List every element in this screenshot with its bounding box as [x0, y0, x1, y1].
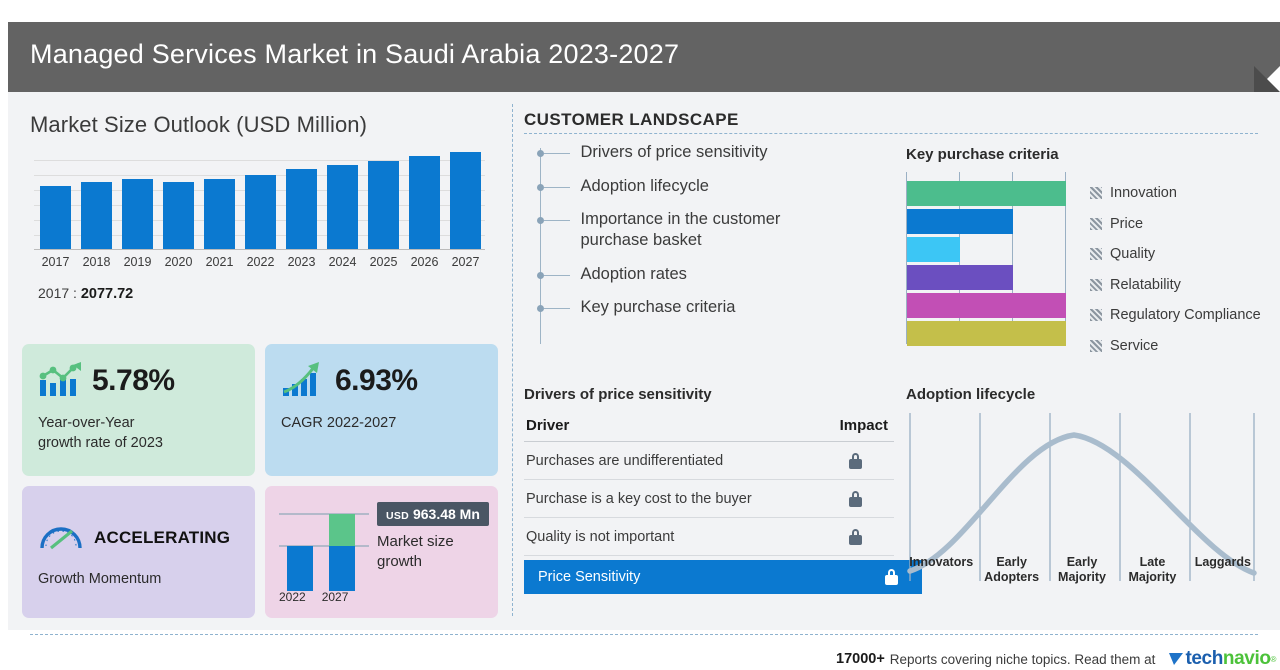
stage-label: EarlyMajority — [1047, 555, 1117, 584]
kpc-bar-relatability — [907, 265, 1013, 290]
column-header-driver: Driver — [526, 417, 569, 434]
kpi-card-yoy[interactable]: 5.78% Year-over-Year growth rate of 2023 — [22, 344, 255, 476]
lock-icon — [849, 453, 862, 469]
bullet-dot-icon — [537, 217, 544, 224]
bullet-dot-icon — [537, 150, 544, 157]
mini-label-2022: 2022 — [279, 590, 306, 604]
kpc-bar-quality — [907, 237, 960, 262]
list-item[interactable]: Drivers of price sensitivity — [534, 142, 894, 163]
list-item[interactable]: Adoption rates — [534, 264, 894, 285]
bar-2025 — [368, 161, 399, 249]
drivers-table-header: Driver Impact — [524, 417, 894, 442]
market-growth-mini-chart — [279, 504, 375, 604]
kpi-sub-yoy-line1: Year-over-Year — [38, 414, 239, 434]
legend-label: Relatability — [1110, 277, 1181, 293]
bar-2020 — [163, 182, 194, 249]
alc-plot: InnovatorsEarlyAdoptersEarlyMajorityLate… — [906, 413, 1258, 588]
table-row-highlighted[interactable]: Price Sensitivity — [524, 560, 922, 594]
kpc-title: Key purchase criteria — [906, 146, 1266, 163]
page-title: Managed Services Market in Saudi Arabia … — [30, 39, 679, 70]
key-purchase-criteria-chart: Key purchase criteria InnovationPriceQua… — [906, 146, 1266, 361]
legend-item: Regulatory Compliance — [1090, 300, 1261, 331]
bar-2017 — [40, 186, 71, 249]
kpc-plot — [906, 172, 1066, 344]
kpc-legend: InnovationPriceQualityRelatabilityRegula… — [1090, 172, 1261, 361]
kpc-bar-service — [907, 321, 1066, 346]
list-item-label: Adoption lifecycle — [581, 176, 709, 197]
market-growth-badge: USD 963.48 Mn — [377, 502, 489, 526]
leader-line — [544, 187, 570, 188]
x-label-2017: 2017 — [40, 255, 71, 269]
bar-2022 — [245, 175, 276, 249]
market-growth-line2: growth — [377, 552, 454, 572]
hatch-swatch-icon — [1090, 340, 1102, 352]
market-growth-line1: Market size — [377, 532, 454, 552]
legend-label: Regulatory Compliance — [1110, 307, 1261, 323]
legend-item: Innovation — [1090, 178, 1261, 209]
kpc-bar-price — [907, 209, 1013, 234]
registered-mark-icon: ® — [1271, 655, 1277, 664]
list-item[interactable]: Importance in the customer purchase bask… — [534, 209, 894, 250]
badge-value: 963.48 Mn — [413, 506, 480, 522]
leader-line — [544, 308, 570, 309]
footer-divider — [30, 634, 1258, 635]
x-label-2019: 2019 — [122, 255, 153, 269]
lock-icon — [885, 569, 898, 585]
drivers-table: Drivers of price sensitivity Driver Impa… — [524, 386, 894, 594]
bar-2024 — [327, 165, 358, 249]
kpi-value-cagr: 6.93% — [335, 364, 418, 398]
stage-label: EarlyAdopters — [976, 555, 1046, 584]
lock-icon — [849, 529, 862, 545]
kpc-bar-innovation — [907, 181, 1066, 206]
hatch-swatch-icon — [1090, 248, 1102, 260]
bar-chart-x-labels: 2017201820192020202120222023202420252026… — [40, 255, 500, 269]
bullet-dot-icon — [537, 272, 544, 279]
driver-label: Purchases are undifferentiated — [526, 453, 723, 469]
legend-label: Innovation — [1110, 185, 1177, 201]
bar-2027 — [450, 152, 481, 249]
x-label-2022: 2022 — [245, 255, 276, 269]
badge-currency: USD — [386, 510, 409, 522]
drivers-title: Drivers of price sensitivity — [524, 386, 894, 403]
legend-label: Service — [1110, 338, 1158, 354]
legend-item: Quality — [1090, 239, 1261, 270]
bar-series — [40, 160, 481, 249]
list-item-label: Drivers of price sensitivity — [581, 142, 768, 163]
lock-icon — [849, 491, 862, 507]
customer-landscape-underline — [524, 133, 1258, 134]
market-size-callout: 2017 : 2077.72 — [38, 285, 500, 302]
bar-2018 — [81, 182, 112, 249]
x-label-2025: 2025 — [368, 255, 399, 269]
hatch-swatch-icon — [1090, 309, 1102, 321]
technavio-mark-icon — [1168, 650, 1185, 669]
market-growth-x-labels: 2022 2027 — [279, 590, 379, 604]
legend-label: Quality — [1110, 246, 1155, 262]
x-label-2023: 2023 — [286, 255, 317, 269]
kpi-card-momentum[interactable]: ACCELERATING Growth Momentum — [22, 486, 255, 618]
kpi-card-cagr[interactable]: 6.93% CAGR 2022-2027 — [265, 344, 498, 476]
bullet-dot-icon — [537, 184, 544, 191]
x-label-2020: 2020 — [163, 255, 194, 269]
driver-label: Purchase is a key cost to the buyer — [526, 491, 752, 507]
kpi-sub-momentum: Growth Momentum — [38, 570, 239, 590]
kpi-card-market-growth[interactable]: 2022 2027 USD 963.48 Mn Market size grow… — [265, 486, 498, 618]
hatch-swatch-icon — [1090, 218, 1102, 230]
callout-year: 2017 : — [38, 285, 77, 301]
legend-label: Price — [1110, 216, 1143, 232]
stage-label: Laggards — [1188, 555, 1258, 584]
stage-label: LateMajority — [1117, 555, 1187, 584]
bar-2019 — [122, 179, 153, 249]
adoption-lifecycle-chart: Adoption lifecycle InnovatorsEarlyAdopte… — [906, 386, 1262, 588]
list-item-label: Adoption rates — [581, 264, 687, 285]
leader-line — [544, 220, 570, 221]
x-label-2024: 2024 — [327, 255, 358, 269]
kpi-card-grid: 5.78% Year-over-Year growth rate of 2023 — [22, 344, 498, 618]
kpi-sub-cagr: CAGR 2022-2027 — [281, 414, 482, 434]
hatch-swatch-icon — [1090, 279, 1102, 291]
kpi-value-yoy: 5.78% — [92, 364, 175, 398]
bar-line-growth-icon — [38, 360, 82, 403]
list-item[interactable]: Key purchase criteria — [534, 297, 894, 318]
x-label-2018: 2018 — [81, 255, 112, 269]
list-item[interactable]: Adoption lifecycle — [534, 176, 894, 197]
technavio-logo[interactable]: tech navio ® — [1168, 648, 1276, 670]
table-row[interactable]: Quality is not important — [524, 518, 894, 556]
customer-landscape-list: Drivers of price sensitivity Adoption li… — [534, 142, 894, 331]
leader-line — [544, 153, 570, 154]
column-header-impact: Impact — [840, 417, 888, 434]
mini-label-2027: 2027 — [322, 590, 349, 604]
x-label-2026: 2026 — [409, 255, 440, 269]
bullet-dot-icon — [537, 305, 544, 312]
list-item-label: Importance in the customer purchase bask… — [581, 209, 826, 250]
hatch-swatch-icon — [1090, 187, 1102, 199]
logo-text-navio: navio — [1223, 648, 1271, 670]
page-header: Managed Services Market in Saudi Arabia … — [8, 22, 1280, 92]
infographic-page: Managed Services Market in Saudi Arabia … — [0, 0, 1280, 670]
list-item-label: Key purchase criteria — [581, 297, 736, 318]
driver-label: Quality is not important — [526, 529, 674, 545]
stage-label: Innovators — [906, 555, 976, 584]
x-label-2027: 2027 — [450, 255, 481, 269]
market-size-title: Market Size Outlook (USD Million) — [30, 112, 500, 138]
vertical-divider — [512, 104, 513, 616]
kpc-bar-regulatory-compliance — [907, 293, 1066, 318]
ascending-bars-arrow-icon — [281, 360, 325, 403]
logo-text-tech: tech — [1185, 648, 1222, 670]
bar-2026 — [409, 156, 440, 249]
kpi-value-momentum: ACCELERATING — [94, 528, 230, 548]
legend-item: Service — [1090, 331, 1261, 362]
driver-label: Price Sensitivity — [538, 569, 640, 585]
x-label-2021: 2021 — [204, 255, 235, 269]
bar-2023 — [286, 169, 317, 249]
market-size-section: Market Size Outlook (USD Million) 201720… — [30, 112, 500, 302]
speedometer-icon — [38, 520, 84, 557]
footer-text: Reports covering niche topics. Read them… — [890, 652, 1156, 667]
callout-value: 2077.72 — [81, 286, 133, 302]
customer-landscape-title: CUSTOMER LANDSCAPE — [524, 110, 739, 130]
market-size-bar-chart — [30, 160, 485, 250]
legend-item: Relatability — [1090, 270, 1261, 301]
kpi-sub-yoy-line2: growth rate of 2023 — [38, 434, 239, 454]
leader-line — [544, 275, 570, 276]
alc-title: Adoption lifecycle — [906, 386, 1262, 403]
table-row[interactable]: Purchase is a key cost to the buyer — [524, 480, 894, 518]
table-row[interactable]: Purchases are undifferentiated — [524, 442, 894, 480]
report-count: 17000+ — [836, 651, 885, 667]
legend-item: Price — [1090, 209, 1261, 240]
bar-2021 — [204, 179, 235, 249]
footer: 17000+ Reports covering niche topics. Re… — [836, 648, 1276, 670]
